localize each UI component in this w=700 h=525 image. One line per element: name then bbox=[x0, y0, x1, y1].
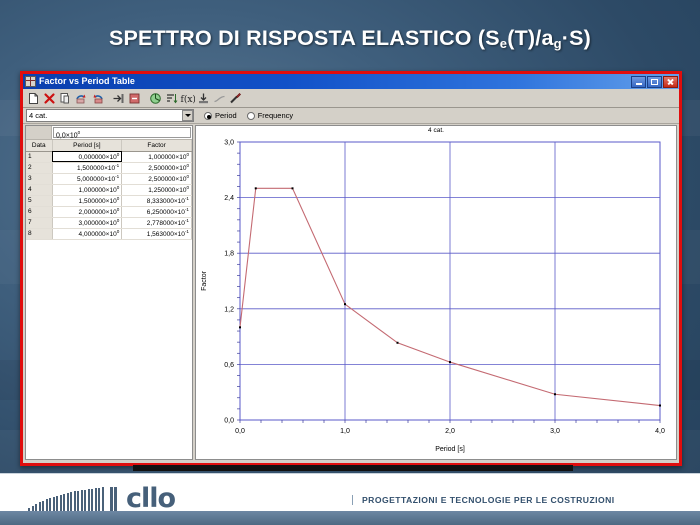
sort-icon[interactable] bbox=[164, 91, 179, 106]
insert-row-icon[interactable] bbox=[111, 91, 126, 106]
column-header-period[interactable]: Period [s] bbox=[52, 140, 122, 151]
radio-frequency[interactable]: Frequency bbox=[247, 111, 293, 120]
category-dropdown[interactable]: 4 cat. bbox=[26, 109, 194, 122]
svg-text:2,0: 2,0 bbox=[445, 428, 455, 435]
footer-tagline: PROGETTAZIONI E TECNOLOGIE PER LE COSTRU… bbox=[352, 495, 615, 505]
table-row[interactable]: 51,500000×1008,333000×10-1 bbox=[26, 195, 192, 206]
application-window: Factor vs Period Table bbox=[20, 71, 682, 466]
radio-period-indicator[interactable] bbox=[204, 112, 212, 120]
svg-text:f(x): f(x) bbox=[181, 94, 196, 105]
curve-icon[interactable] bbox=[212, 91, 227, 106]
new-document-icon[interactable] bbox=[26, 91, 41, 106]
footer-divider bbox=[0, 473, 700, 474]
page-title-end: ·S) bbox=[562, 26, 591, 50]
delete-icon[interactable] bbox=[42, 91, 57, 106]
svg-text:2,4: 2,4 bbox=[224, 195, 234, 202]
toolbar: f(x) bbox=[23, 89, 679, 108]
radio-period-label: Period bbox=[215, 111, 237, 120]
company-logo: cllo bbox=[126, 483, 175, 514]
radio-frequency-label: Frequency bbox=[258, 111, 293, 120]
chart-panel[interactable]: 4 cat. 0,01,02,03,04,00,00,61,21,82,43,0… bbox=[195, 125, 677, 460]
cell-factor[interactable]: 2,500000×100 bbox=[122, 173, 192, 184]
table-row[interactable]: 35,000000×10-12,500000×100 bbox=[26, 173, 192, 184]
cell-editor-value: 0,0×10 bbox=[56, 132, 78, 139]
cell-index[interactable]: 5 bbox=[26, 195, 52, 206]
delete-row-icon[interactable] bbox=[127, 91, 142, 106]
cell-factor[interactable]: 2,778000×10-1 bbox=[122, 217, 192, 228]
cell-editor-exponent: 0 bbox=[78, 130, 81, 135]
cell-factor[interactable]: 1,563000×10-1 bbox=[122, 228, 192, 239]
cell-factor[interactable]: 6,250000×10-1 bbox=[122, 206, 192, 217]
logo-bars-icon bbox=[28, 487, 117, 513]
window-body: 0,0×100 Data Period [s] Factor 10,000000… bbox=[23, 124, 679, 463]
copy-icon[interactable] bbox=[58, 91, 73, 106]
page-title-sub-g: g bbox=[554, 36, 562, 51]
chart-icon[interactable] bbox=[148, 91, 163, 106]
cell-editor-corner bbox=[26, 126, 52, 139]
cell-factor[interactable]: 8,333000×10-1 bbox=[122, 195, 192, 206]
cell-index[interactable]: 1 bbox=[26, 151, 52, 162]
cell-period[interactable]: 1,000000×100 bbox=[52, 184, 122, 195]
radio-period[interactable]: Period bbox=[204, 111, 237, 120]
import-icon[interactable] bbox=[196, 91, 211, 106]
svg-text:Period [s]: Period [s] bbox=[435, 446, 465, 453]
svg-text:0,0: 0,0 bbox=[224, 418, 234, 425]
table-row[interactable]: 62,000000×1006,250000×10-1 bbox=[26, 206, 192, 217]
category-dropdown-value: 4 cat. bbox=[29, 110, 182, 121]
function-icon[interactable]: f(x) bbox=[180, 91, 195, 106]
cell-period[interactable]: 4,000000×100 bbox=[52, 228, 122, 239]
data-table-panel: 0,0×100 Data Period [s] Factor 10,000000… bbox=[25, 125, 193, 460]
svg-text:0,6: 0,6 bbox=[224, 362, 234, 369]
table-row[interactable]: 41,000000×1001,250000×100 bbox=[26, 184, 192, 195]
svg-text:3,0: 3,0 bbox=[550, 428, 560, 435]
tools-icon[interactable] bbox=[228, 91, 243, 106]
table-empty-area[interactable] bbox=[26, 240, 192, 460]
svg-text:4,0: 4,0 bbox=[655, 428, 665, 435]
cell-index[interactable]: 6 bbox=[26, 206, 52, 217]
close-button[interactable] bbox=[663, 76, 678, 88]
slide-footer: cllo PROGETTAZIONI E TECNOLOGIE PER LE C… bbox=[0, 473, 700, 525]
cell-index[interactable]: 4 bbox=[26, 184, 52, 195]
undo-icon[interactable] bbox=[74, 91, 89, 106]
column-header-data[interactable]: Data bbox=[26, 140, 52, 151]
data-table: Data Period [s] Factor 10,000000×1001,00… bbox=[26, 140, 192, 240]
svg-text:3,0: 3,0 bbox=[224, 140, 234, 147]
cell-editor-input[interactable]: 0,0×100 bbox=[53, 127, 191, 138]
cell-index[interactable]: 7 bbox=[26, 217, 52, 228]
cell-factor[interactable]: 2,500000×100 bbox=[122, 162, 192, 173]
svg-text:1,0: 1,0 bbox=[340, 428, 350, 435]
cell-editor: 0,0×100 bbox=[26, 126, 192, 140]
maximize-button[interactable] bbox=[647, 76, 662, 88]
table-row[interactable]: 84,000000×1001,563000×10-1 bbox=[26, 228, 192, 239]
radio-frequency-indicator[interactable] bbox=[247, 112, 255, 120]
cell-period[interactable]: 1,500000×10-1 bbox=[52, 162, 122, 173]
svg-text:Factor: Factor bbox=[201, 270, 208, 291]
svg-text:0,0: 0,0 bbox=[235, 428, 245, 435]
cell-index[interactable]: 2 bbox=[26, 162, 52, 173]
cell-period[interactable]: 5,000000×10-1 bbox=[52, 173, 122, 184]
page-title: SPETTRO DI RISPOSTA ELASTICO (Se(T)/ag·S… bbox=[0, 26, 700, 51]
response-spectrum-chart: 0,01,02,03,04,00,00,61,21,82,43,0Period … bbox=[196, 126, 674, 456]
cell-period[interactable]: 2,000000×100 bbox=[52, 206, 122, 217]
cell-period[interactable]: 3,000000×100 bbox=[52, 217, 122, 228]
chevron-down-icon[interactable] bbox=[182, 110, 193, 121]
cell-period[interactable]: 1,500000×100 bbox=[52, 195, 122, 206]
redo-icon[interactable] bbox=[90, 91, 105, 106]
horizontal-scrollbar[interactable] bbox=[133, 465, 573, 471]
svg-text:1,2: 1,2 bbox=[224, 306, 234, 313]
cell-period[interactable]: 0,000000×100 bbox=[52, 151, 122, 162]
svg-text:1,8: 1,8 bbox=[224, 251, 234, 258]
column-header-factor[interactable]: Factor bbox=[122, 140, 192, 151]
window-title: Factor vs Period Table bbox=[39, 76, 630, 87]
table-row[interactable]: 73,000000×1002,778000×10-1 bbox=[26, 217, 192, 228]
cell-factor[interactable]: 1,250000×100 bbox=[122, 184, 192, 195]
window-titlebar[interactable]: Factor vs Period Table bbox=[23, 74, 679, 89]
page-title-mid: (T)/a bbox=[507, 26, 553, 50]
cell-index[interactable]: 3 bbox=[26, 173, 52, 184]
control-strip: 4 cat. Period Frequency bbox=[23, 108, 679, 124]
cell-factor[interactable]: 1,000000×100 bbox=[122, 151, 192, 162]
footer-bar bbox=[0, 511, 700, 525]
presentation-slide: SPETTRO DI RISPOSTA ELASTICO (Se(T)/ag·S… bbox=[0, 0, 700, 525]
table-row[interactable]: 21,500000×10-12,500000×100 bbox=[26, 162, 192, 173]
table-header-row: Data Period [s] Factor bbox=[26, 140, 192, 151]
table-icon bbox=[25, 76, 36, 87]
table-body: 10,000000×1001,000000×10021,500000×10-12… bbox=[26, 151, 192, 239]
page-title-main: SPETTRO DI RISPOSTA ELASTICO (S bbox=[109, 26, 500, 50]
cell-index[interactable]: 8 bbox=[26, 228, 52, 239]
table-row[interactable]: 10,000000×1001,000000×100 bbox=[26, 151, 192, 162]
minimize-button[interactable] bbox=[631, 76, 646, 88]
